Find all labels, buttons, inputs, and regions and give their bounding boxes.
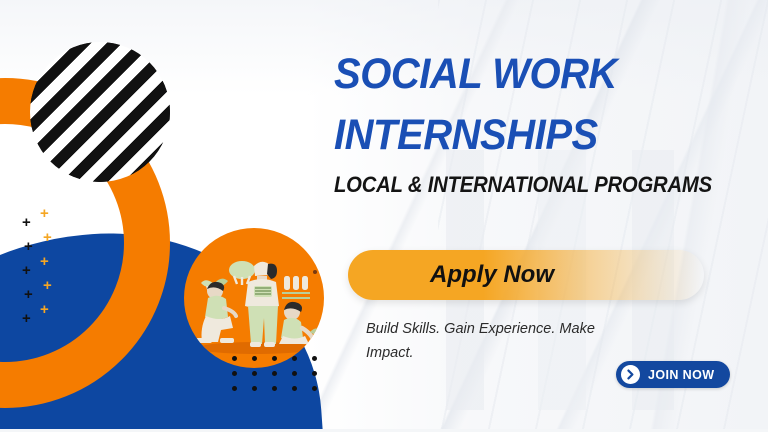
headline-line-1: SOCIAL WORK bbox=[334, 50, 617, 98]
grid-dot bbox=[292, 356, 297, 361]
grid-dot bbox=[252, 356, 257, 361]
plus-mark-orange: + bbox=[43, 278, 52, 293]
grid-dot bbox=[272, 386, 277, 391]
volunteers-gardening-illustration bbox=[184, 228, 324, 368]
join-now-label: JOIN NOW bbox=[648, 368, 714, 382]
plus-mark-orange: + bbox=[40, 302, 49, 317]
grid-dot bbox=[252, 371, 257, 376]
grid-dot bbox=[312, 386, 317, 391]
plus-mark-black: + bbox=[22, 311, 31, 326]
apply-now-button[interactable]: Apply Now bbox=[348, 250, 704, 300]
grid-dot bbox=[232, 371, 237, 376]
grid-dot bbox=[252, 386, 257, 391]
grid-dot bbox=[312, 356, 317, 361]
social-work-internships-banner: ++++++++++ bbox=[0, 0, 768, 432]
plus-mark-black: + bbox=[22, 263, 31, 278]
plus-mark-orange: + bbox=[43, 230, 52, 245]
grid-dot bbox=[292, 371, 297, 376]
cta-container: Apply Now bbox=[348, 250, 704, 300]
illustration-art bbox=[184, 228, 324, 368]
grid-dot bbox=[272, 371, 277, 376]
arrow-right-icon bbox=[621, 365, 640, 384]
subheadline: LOCAL & INTERNATIONAL PROGRAMS bbox=[334, 172, 712, 198]
grid-dot bbox=[272, 356, 277, 361]
headline-line-2: INTERNSHIPS bbox=[334, 105, 725, 166]
dot-grid-decoration bbox=[232, 356, 332, 400]
plus-mark-black: + bbox=[24, 287, 33, 302]
grid-dot bbox=[292, 386, 297, 391]
striped-circle-decoration bbox=[30, 42, 170, 182]
grid-dot bbox=[232, 356, 237, 361]
content-column: SOCIAL WORK INTERNSHIPS LOCAL & INTERNAT… bbox=[334, 0, 768, 432]
plus-mark-orange: + bbox=[40, 254, 49, 269]
arrow-right-glyph bbox=[625, 369, 636, 380]
plus-mark-black: + bbox=[22, 215, 31, 230]
grid-dot bbox=[232, 386, 237, 391]
join-now-button[interactable]: JOIN NOW bbox=[616, 361, 730, 388]
grid-dot bbox=[312, 371, 317, 376]
plus-mark-orange: + bbox=[40, 206, 49, 221]
page-title: SOCIAL WORK INTERNSHIPS bbox=[334, 44, 725, 166]
plus-mark-black: + bbox=[24, 239, 33, 254]
tagline-text: Build Skills. Gain Experience. Make Impa… bbox=[366, 318, 616, 366]
